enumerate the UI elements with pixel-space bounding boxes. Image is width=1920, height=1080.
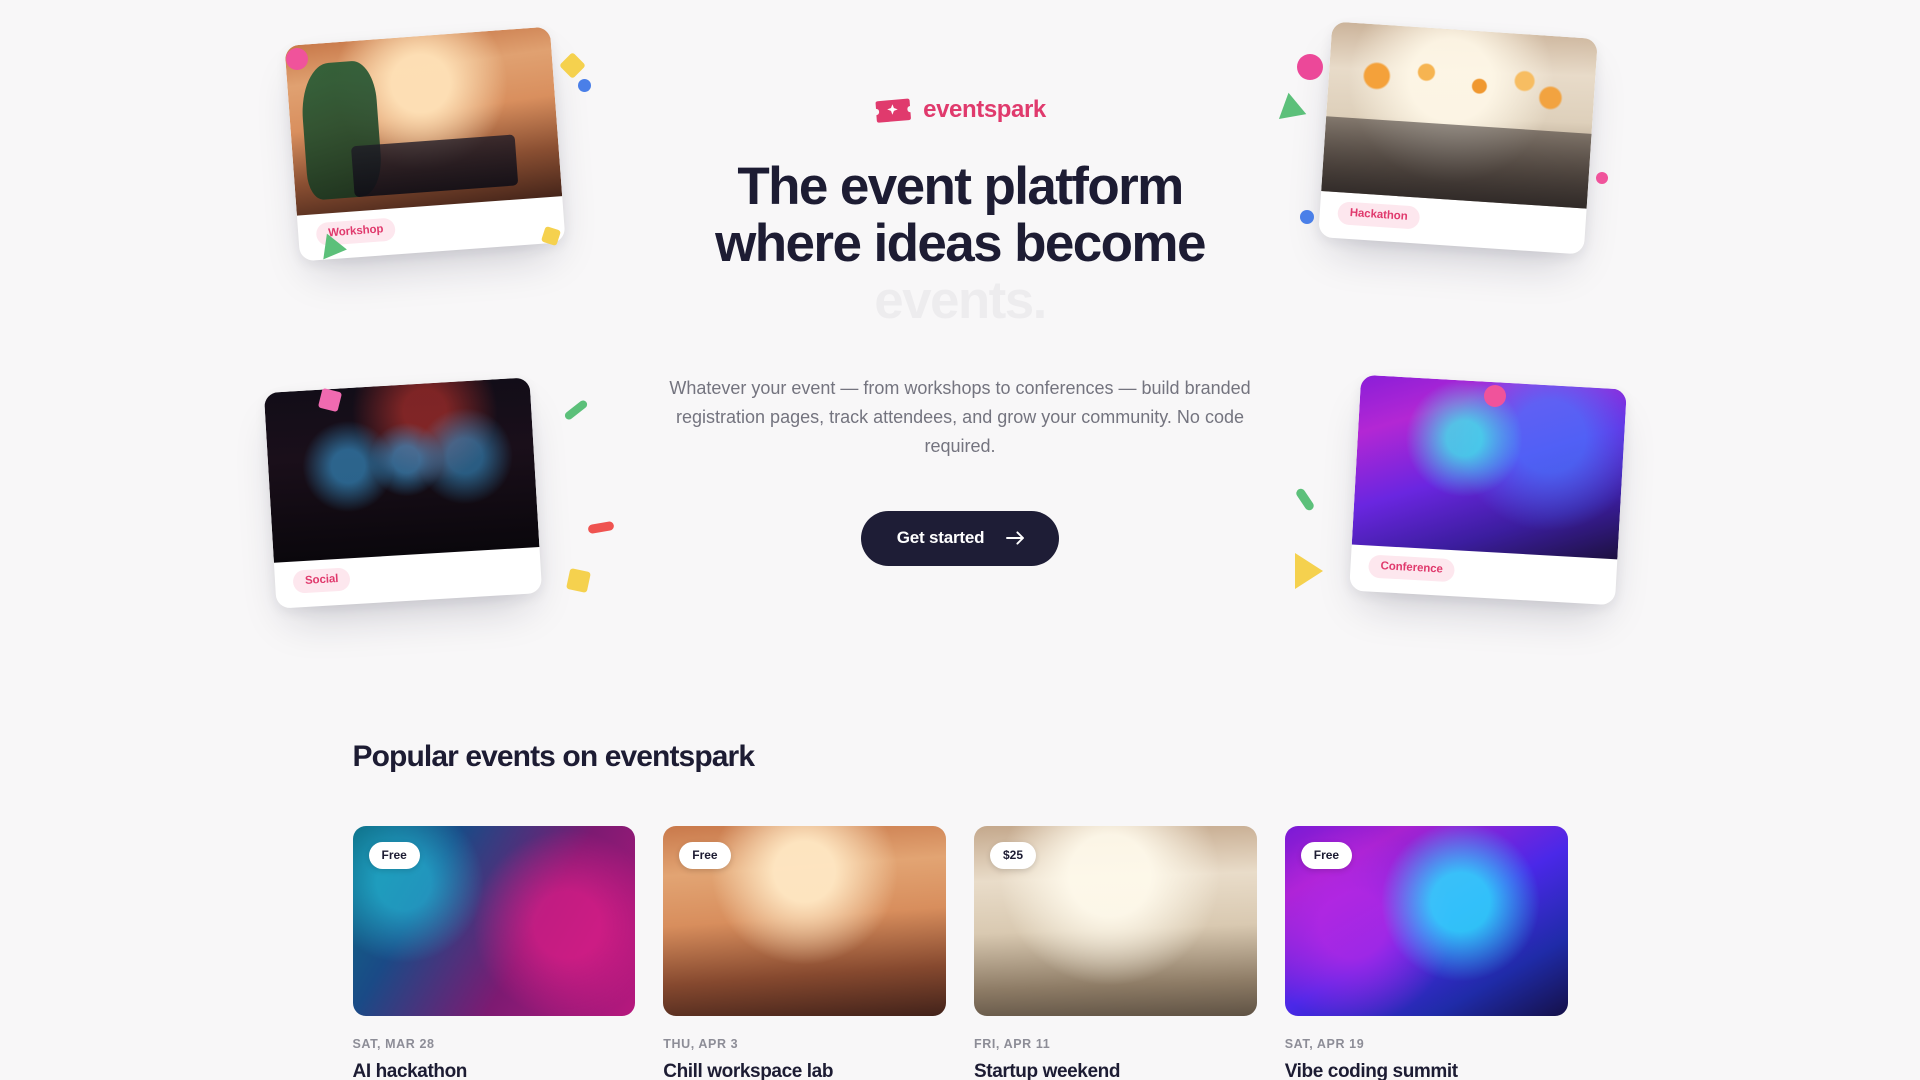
pink-circle-top-right: [1297, 54, 1323, 80]
headline-line-2: where ideas become: [640, 215, 1280, 272]
event-card[interactable]: Free SAT, MAR 28 AI hackathon: [353, 826, 636, 1080]
pink-dot-far-right: [1596, 172, 1608, 184]
green-dash-center: [563, 399, 588, 421]
event-thumbnail: $25: [974, 826, 1257, 1016]
event-date: SAT, MAR 28: [353, 1037, 636, 1051]
hero-section: Workshop Hackathon Social Conference: [0, 0, 1920, 740]
popular-events-grid: Free SAT, MAR 28 AI hackathon Free THU, …: [353, 826, 1568, 1080]
ticket-sparkle-icon: [874, 97, 912, 123]
yellow-square-center: [566, 568, 591, 593]
hero-cta-wrap: Get started: [640, 511, 1280, 566]
event-title: Vibe coding summit: [1285, 1060, 1568, 1080]
event-date: SAT, APR 19: [1285, 1037, 1568, 1051]
event-thumbnail: Free: [1285, 826, 1568, 1016]
green-triangle-left: [323, 234, 348, 263]
coral-dash-center: [587, 521, 614, 534]
arrow-right-icon: [1006, 531, 1025, 545]
event-date: THU, APR 3: [663, 1037, 946, 1051]
event-title: Startup weekend: [974, 1060, 1257, 1080]
floating-card-workshop[interactable]: Workshop: [284, 27, 565, 262]
popular-events-title: Popular events on eventspark: [353, 740, 1568, 774]
brand-name: eventspark: [923, 96, 1046, 124]
event-price-badge: Free: [369, 842, 420, 869]
landing-page: Workshop Hackathon Social Conference: [0, 0, 1920, 1080]
event-title: Chill workspace lab: [663, 1060, 946, 1080]
event-card[interactable]: Free SAT, APR 19 Vibe coding summit: [1285, 826, 1568, 1080]
blue-dot-right: [1300, 210, 1314, 224]
blue-dot-top-left: [578, 79, 591, 92]
get-started-label: Get started: [897, 528, 985, 548]
event-card[interactable]: $25 FRI, APR 11 Startup weekend: [974, 826, 1257, 1080]
floating-card-badge: Hackathon: [1337, 201, 1420, 229]
get-started-button[interactable]: Get started: [861, 511, 1060, 566]
event-thumbnail: Free: [663, 826, 946, 1016]
pink-circle-conference: [1484, 385, 1506, 407]
floating-card-hackathon[interactable]: Hackathon: [1318, 21, 1598, 254]
floating-card-badge: Social: [292, 567, 351, 593]
green-triangle-right: [1279, 93, 1311, 128]
headline-line-1: The event platform: [640, 158, 1280, 215]
pink-circle-top-left: [286, 48, 308, 70]
hero-subheadline: Whatever your event — from workshops to …: [640, 374, 1280, 461]
yellow-diamond-top-left: [559, 52, 586, 79]
floating-card-photo: [1321, 21, 1598, 208]
green-dash-right: [1295, 487, 1316, 512]
event-title: AI hackathon: [353, 1060, 636, 1080]
floating-card-photo: [264, 377, 540, 562]
event-price-badge: $25: [990, 842, 1036, 869]
event-price-badge: Free: [1301, 842, 1352, 869]
event-price-badge: Free: [679, 842, 730, 869]
floating-card-conference[interactable]: Conference: [1349, 375, 1627, 606]
brand-logo[interactable]: eventspark: [640, 96, 1280, 124]
hero-content: eventspark The event platform where idea…: [640, 96, 1280, 566]
hero-headline: The event platform where ideas become ev…: [640, 158, 1280, 330]
headline-line-3: events.: [640, 272, 1280, 329]
event-card[interactable]: Free THU, APR 3 Chill workspace lab: [663, 826, 946, 1080]
popular-events-section: Popular events on eventspark Free SAT, M…: [0, 740, 1920, 1080]
event-date: FRI, APR 11: [974, 1037, 1257, 1051]
floating-card-social[interactable]: Social: [264, 377, 542, 608]
floating-card-photo: [284, 27, 562, 216]
floating-card-badge: Conference: [1368, 554, 1455, 582]
event-thumbnail: Free: [353, 826, 636, 1016]
yellow-triangle-right: [1295, 553, 1323, 589]
